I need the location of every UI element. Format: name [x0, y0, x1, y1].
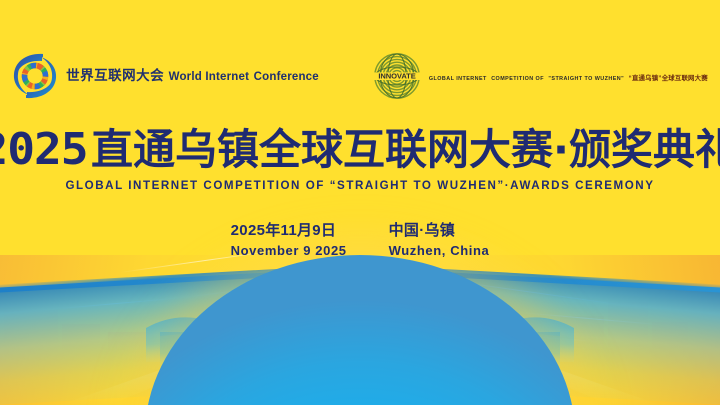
event-meta-row: 2025年11月9日 November 9 2025 中国·乌镇 Wuzhen,… — [0, 222, 720, 260]
title-english-subtitle: GLOBAL INTERNET COMPETITION OF “STRAIGHT… — [0, 179, 720, 192]
svg-text:INNOVATE: INNOVATE — [378, 71, 415, 80]
event-place-chinese: 中国·乌镇 — [389, 222, 490, 241]
event-place: 中国·乌镇 Wuzhen, China — [389, 222, 490, 260]
title-block: 2025 直通乌镇全球互联网大赛·颁奖典礼 GLOBAL INTERNET CO… — [0, 128, 720, 192]
wic-english-line2: Conference — [254, 71, 319, 83]
wic-english-line1: World Internet — [169, 71, 250, 83]
event-date-english: November 9 2025 — [231, 243, 347, 260]
wic-mark-icon — [12, 51, 58, 101]
poster-canvas: 世界互联网大会 World Internet Conference — [0, 0, 720, 405]
world-internet-conference-logo: 世界互联网大会 World Internet Conference — [12, 51, 319, 101]
innovate-line-3: "STRAIGHT TO WUZHEN" — [548, 76, 624, 82]
innovate-globe-icon: INNOVATE — [373, 52, 421, 100]
wic-logo-text: 世界互联网大会 World Internet Conference — [66, 68, 319, 84]
event-place-english: Wuzhen, China — [389, 243, 490, 260]
title-chinese: 直通乌镇全球互联网大赛·颁奖典礼 — [91, 129, 720, 171]
wic-chinese-name: 世界互联网大会 — [66, 68, 164, 83]
logo-row: 世界互联网大会 World Internet Conference — [0, 48, 720, 104]
innovate-logo-text: GLOBAL INTERNET COMPETITION OF "STRAIGHT… — [429, 65, 708, 87]
innovate-line-1: GLOBAL INTERNET — [429, 76, 487, 82]
title-main-line: 2025 直通乌镇全球互联网大赛·颁奖典礼 — [0, 128, 720, 172]
innovate-line-4-chinese: “直通乌镇”全球互联网大赛 — [629, 75, 708, 82]
event-date-chinese: 2025年11月9日 — [231, 222, 347, 241]
innovate-logo: INNOVATE GLOBAL INTERNET COMPETITION OF … — [373, 52, 708, 100]
event-date: 2025年11月9日 November 9 2025 — [231, 222, 347, 260]
innovate-line-2: COMPETITION OF — [491, 76, 544, 82]
title-year: 2025 — [0, 128, 88, 172]
